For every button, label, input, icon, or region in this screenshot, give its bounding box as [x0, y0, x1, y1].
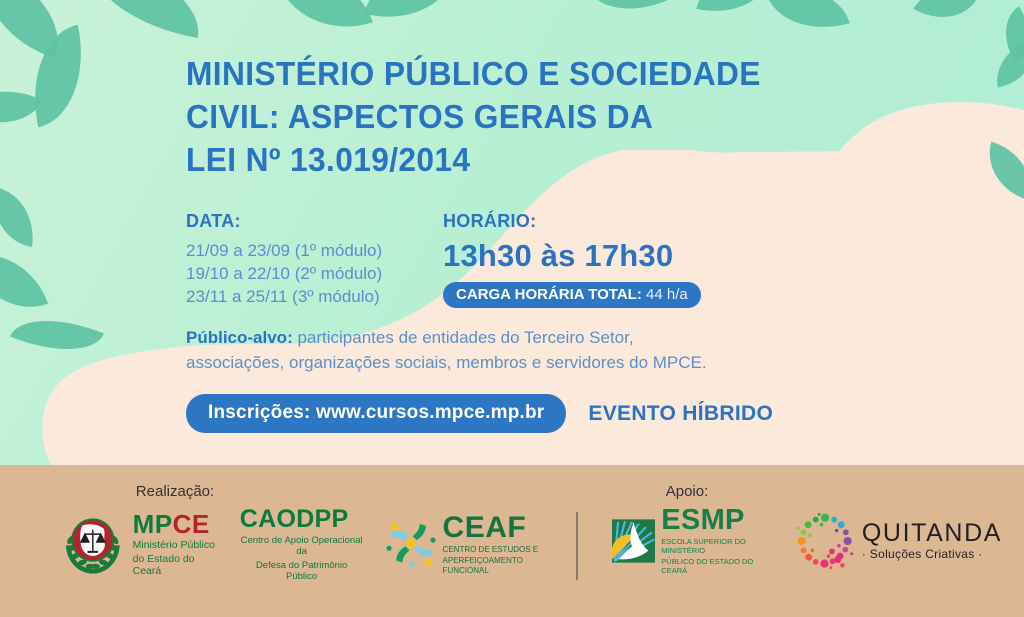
- quitanda-wordmark: QUITANDA · Soluções Criativas ·: [862, 521, 1002, 561]
- ceaf-subtitle-1: CENTRO DE ESTUDOS E: [443, 545, 560, 555]
- realizacao-group: Realização:: [60, 483, 560, 582]
- leaf-icon: [586, 0, 669, 28]
- caodpp-logo: CAODPP Centro de Apoio Operacional da De…: [240, 506, 364, 582]
- leaf-icon: [0, 72, 43, 142]
- caodpp-subtitle-2: Defesa do Patrimônio Público: [240, 560, 364, 582]
- workload-label: CARGA HORÁRIA TOTAL:: [456, 286, 642, 303]
- realizacao-logos: MPCE Ministério Público do Estado do Cea…: [60, 506, 560, 582]
- ceaf-wordmark: CEAF CENTRO DE ESTUDOS E APERFEIÇOAMENTO…: [443, 513, 560, 576]
- leaf-icon: [80, 0, 209, 38]
- event-poster: MINISTÉRIO PÚBLICO E SOCIEDADE CIVIL: AS…: [0, 0, 1024, 617]
- audience-line-2: associações, organizações sociais, membr…: [186, 350, 826, 375]
- date-block: DATA: 21/09 a 23/09 (1º módulo) 19/10 a …: [186, 211, 382, 308]
- leaf-icon: [979, 142, 1024, 201]
- mpce-acronym-mp: MP: [133, 509, 173, 539]
- title-line-2: CIVIL: ASPECTOS GERAIS DA: [186, 95, 800, 138]
- time-value: 13h30 às 17h30: [443, 238, 701, 274]
- date-line: 19/10 a 22/10 (2º módulo): [186, 262, 382, 285]
- esmp-emblem-icon: [612, 515, 655, 567]
- poster-title: MINISTÉRIO PÚBLICO E SOCIEDADE CIVIL: AS…: [186, 52, 800, 181]
- apoio-group: Apoio:: [612, 483, 1002, 575]
- registration-link-button[interactable]: Inscrições: www.cursos.mpce.mp.br: [186, 394, 566, 433]
- quitanda-logo: QUITANDA · Soluções Criativas ·: [796, 512, 1002, 570]
- leaf-icon: [991, 6, 1024, 61]
- time-block: HORÁRIO: 13h30 às 17h30 CARGA HORÁRIA TO…: [443, 211, 701, 308]
- esmp-subtitle-2: PÚBLICO DO ESTADO DO CEARÁ: [661, 557, 770, 575]
- quitanda-tagline: · Soluções Criativas ·: [862, 547, 1002, 561]
- leaf-icon: [0, 238, 48, 324]
- caodpp-subtitle-1: Centro de Apoio Operacional da: [240, 535, 364, 557]
- audience-label: Público-alvo:: [186, 328, 293, 347]
- leaf-icon: [364, 0, 454, 33]
- date-line: 23/11 a 25/11 (3º módulo): [186, 285, 382, 308]
- mpce-acronym-ce: CE: [173, 509, 210, 539]
- leaf-icon: [766, 0, 850, 43]
- mpce-subtitle-1: Ministério Público: [133, 539, 218, 551]
- leaf-icon: [0, 0, 76, 59]
- leaf-icon: [696, 0, 768, 22]
- mpce-emblem-icon: [60, 508, 126, 580]
- date-label: DATA:: [186, 211, 382, 232]
- leaf-icon: [0, 187, 40, 247]
- esmp-logo: ESMP ESCOLA SUPERIOR DO MINISTÉRIO PÚBLI…: [612, 506, 770, 575]
- title-line-3: LEI Nº 13.019/2014: [186, 138, 800, 181]
- ceaf-logo: CEAF CENTRO DE ESTUDOS E APERFEIÇOAMENTO…: [385, 513, 560, 576]
- date-line: 21/09 a 23/09 (1º módulo): [186, 239, 382, 262]
- workload-value: 44 h/a: [646, 286, 688, 303]
- esmp-wordmark: ESMP ESCOLA SUPERIOR DO MINISTÉRIO PÚBLI…: [661, 506, 770, 575]
- title-line-1: MINISTÉRIO PÚBLICO E SOCIEDADE: [186, 52, 800, 95]
- footer-divider: [576, 512, 578, 580]
- caodpp-acronym: CAODPP: [240, 506, 364, 532]
- mpce-wordmark: MPCE Ministério Público do Estado do Cea…: [133, 511, 218, 577]
- leaf-icon: [277, 0, 373, 46]
- cta-row: Inscrições: www.cursos.mpce.mp.br EVENTO…: [186, 394, 773, 433]
- esmp-subtitle-1: ESCOLA SUPERIOR DO MINISTÉRIO: [661, 537, 770, 555]
- ceaf-people-icon: [385, 518, 436, 570]
- leaf-icon: [19, 25, 97, 127]
- esmp-acronym: ESMP: [661, 506, 770, 535]
- leaf-icon: [10, 301, 104, 368]
- ceaf-acronym: CEAF: [443, 513, 560, 543]
- date-lines: 21/09 a 23/09 (1º módulo) 19/10 a 22/10 …: [186, 239, 382, 308]
- audience-block: Público-alvo: participantes de entidades…: [186, 325, 826, 375]
- footer-band: Realização:: [0, 465, 1024, 617]
- audience-line-1: Público-alvo: participantes de entidades…: [186, 325, 826, 350]
- leaf-icon: [991, 40, 1024, 87]
- realizacao-caption: Realização:: [60, 483, 290, 500]
- time-label: HORÁRIO:: [443, 211, 701, 232]
- audience-text-1: participantes de entidades do Terceiro S…: [293, 328, 634, 347]
- event-format-label: EVENTO HÍBRIDO: [588, 402, 773, 426]
- ceaf-subtitle-2: APERFEIÇOAMENTO FUNCIONAL: [443, 556, 560, 575]
- workload-badge: CARGA HORÁRIA TOTAL: 44 h/a: [443, 282, 701, 308]
- leaf-icon: [913, 0, 976, 34]
- mpce-subtitle-2: do Estado do Ceará: [133, 553, 218, 577]
- quitanda-q-icon: [796, 512, 854, 570]
- mpce-acronym: MPCE: [133, 511, 218, 537]
- apoio-caption: Apoio:: [612, 483, 762, 500]
- quitanda-name: QUITANDA: [862, 521, 1002, 546]
- apoio-logos: ESMP ESCOLA SUPERIOR DO MINISTÉRIO PÚBLI…: [612, 506, 1002, 575]
- mpce-logo: MPCE Ministério Público do Estado do Cea…: [60, 508, 218, 580]
